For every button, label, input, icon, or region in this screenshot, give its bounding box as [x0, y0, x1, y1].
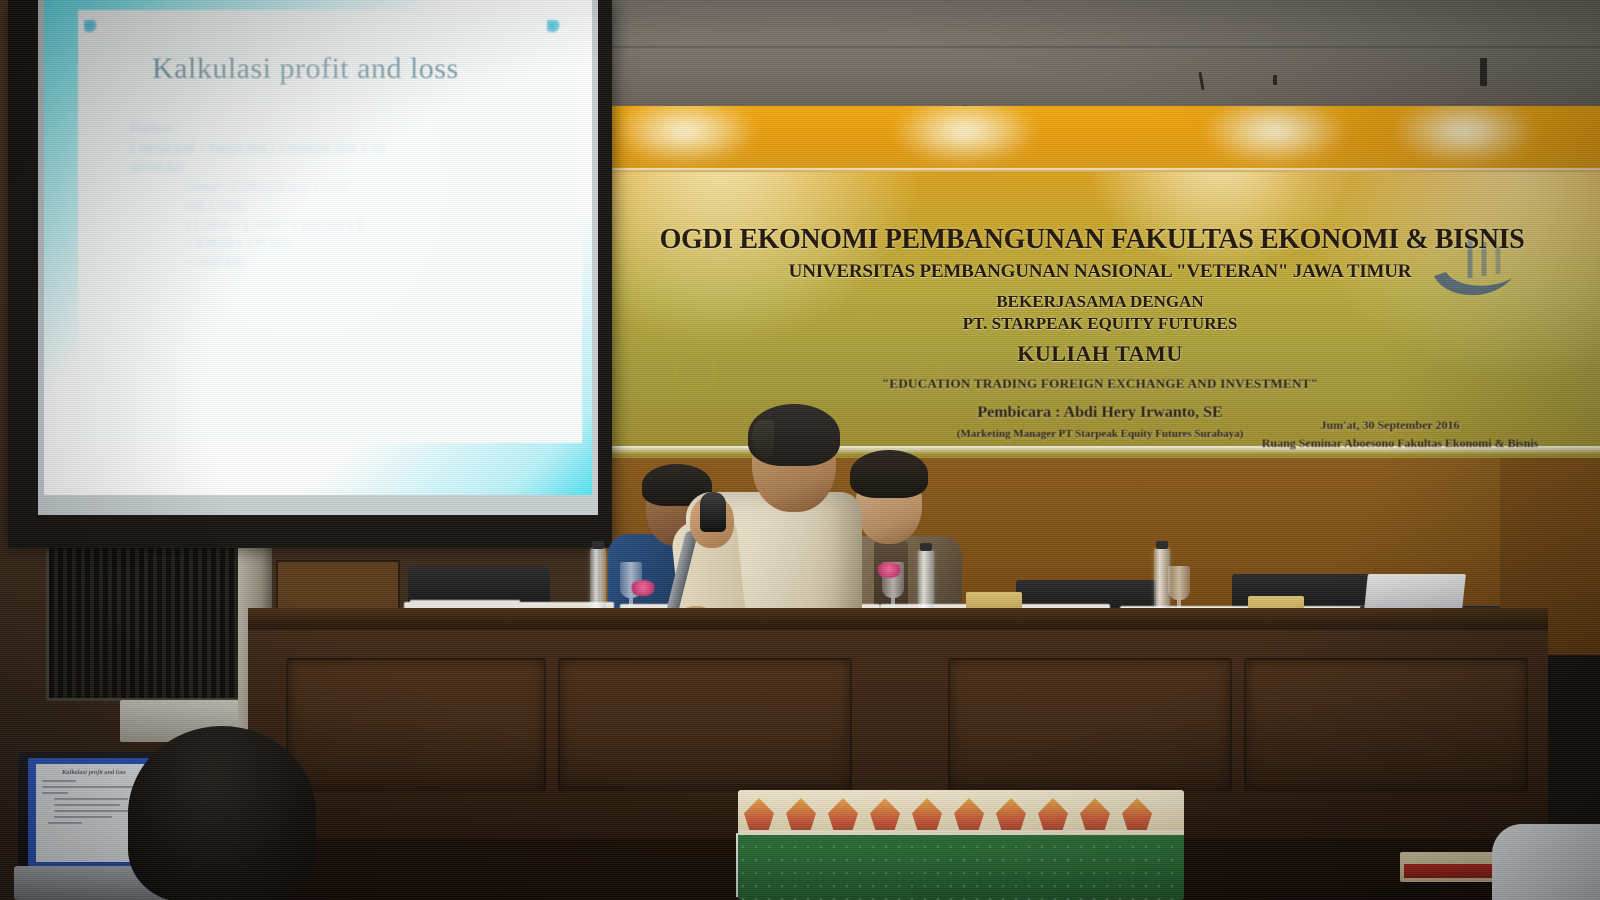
slide-body-line: ( harga jual – harga beli ) x kontrak si…: [130, 138, 560, 158]
banner-room: Ruang Seminar Aboesono Fakultas Ekonomi …: [1200, 436, 1600, 451]
banner-date: Jum'at, 30 September 2016: [1200, 418, 1580, 433]
laptop-lid: [1364, 574, 1466, 610]
foreground-audience-head: [128, 726, 316, 900]
slide-body-line: contoh : EUR/USD buy 1.2345: [186, 178, 560, 197]
slide-body-line: ( 1.2355 – 1.2345 ) x 100.000 x 1: [186, 216, 560, 235]
banner-line-5: KULIAH TAMU: [600, 341, 1600, 367]
banner-line-4: PT. STARPEAK EQUITY FUTURES: [600, 314, 1600, 334]
table-panel: [948, 658, 1232, 792]
event-banner: OGDI EKONOMI PEMBANGUNAN FAKULTAS EKONOM…: [600, 106, 1600, 458]
slide-title: Kalkulasi profit and loss: [152, 52, 572, 86]
handheld-microphone: [700, 492, 726, 532]
banner-text-block: OGDI EKONOMI PEMBANGUNAN FAKULTAS EKONOM…: [600, 106, 1600, 458]
table-panel: [286, 658, 546, 792]
slide-body-line: sell 1.2355: [186, 197, 560, 216]
slide-body: Rumus : ( harga jual – harga beli ) x ko…: [130, 118, 560, 271]
slide-body-line: Rumus :: [130, 118, 560, 138]
foreground-white-sleeve: [1492, 824, 1600, 900]
bird-icon: [547, 20, 560, 33]
speaker-hair: [748, 404, 840, 466]
panelist-right-hair: [850, 450, 928, 498]
bird-icon: [84, 20, 97, 33]
banner-line-3: BEKERJASAMA DENGAN: [600, 292, 1600, 312]
water-bottle: [918, 550, 934, 616]
wall-air-vent: [46, 545, 244, 701]
projected-slide: Kalkulasi profit and loss Rumus : ( harg…: [44, 0, 592, 495]
upper-wall: [600, 0, 1600, 108]
green-batik-covered-table: [738, 790, 1184, 900]
slide-body-line: SPREAD: [130, 158, 560, 178]
banner-line-2: UNIVERSITAS PEMBANGUNAN NASIONAL "VETERA…: [600, 261, 1600, 283]
table-panel: [1244, 658, 1528, 792]
pink-flower-arrangement: [630, 580, 656, 596]
banner-line-6: "EDUCATION TRADING FOREIGN EXCHANGE AND …: [600, 376, 1600, 392]
banner-line-1: OGDI EKONOMI PEMBANGUNAN FAKULTAS EKONOM…: [600, 224, 1592, 256]
foreground-slide-title: Kalkulasi profit and loss: [36, 769, 152, 776]
slide-body-line: = 0.0010 x 100.000: [186, 234, 560, 253]
projection-screen: Kalkulasi profit and loss Rumus : ( harg…: [8, 0, 612, 548]
water-bottle: [590, 548, 606, 614]
slide-body-line: = USD 100: [186, 253, 560, 272]
seminar-photograph: OGDI EKONOMI PEMBANGUNAN FAKULTAS EKONOM…: [0, 0, 1600, 900]
drinking-glass: [1168, 566, 1190, 600]
pink-flower-arrangement: [876, 562, 902, 578]
batik-trim: [738, 790, 1184, 832]
table-panel: [558, 658, 852, 792]
